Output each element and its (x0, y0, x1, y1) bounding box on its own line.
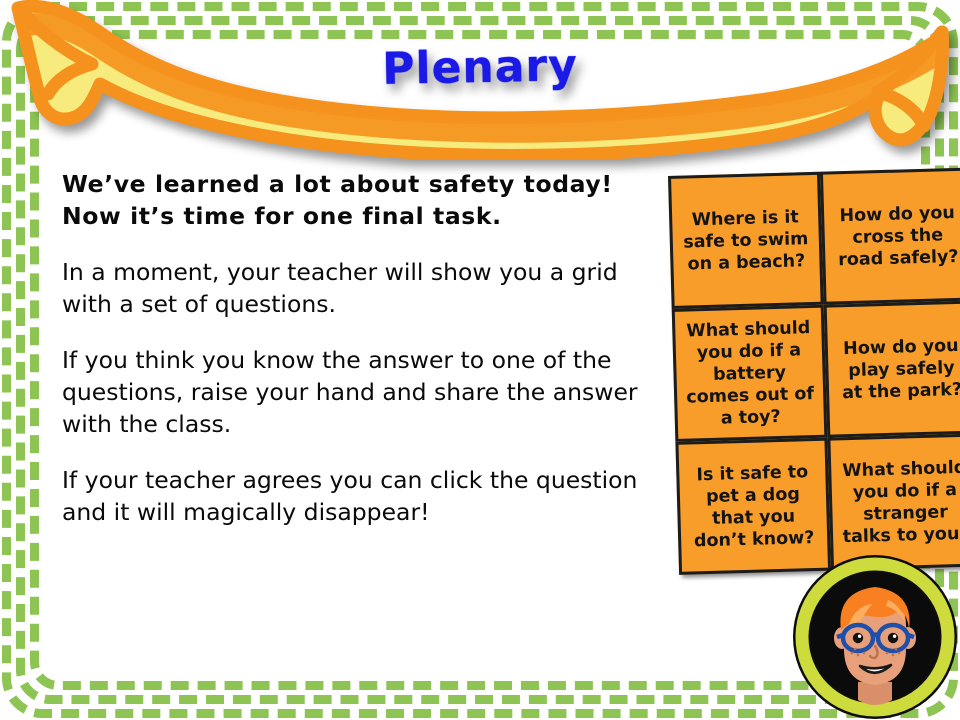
question-tile[interactable]: How do you cross the road safely? (820, 168, 960, 305)
question-tile[interactable]: Where is it safe to swim on a beach? (668, 172, 824, 309)
plenary-ribbon-banner: Plenary (0, 0, 960, 159)
safety-question-grid: Where is it safe to swim on a beach? How… (668, 164, 960, 576)
slide-canvas: Plenary We’ve learned a lot about safety… (0, 0, 960, 720)
question-tile-label: Is it safe to pet a dog that you don’t k… (687, 460, 819, 552)
paragraph-four: If your teacher agrees you can click the… (62, 464, 662, 528)
question-tile[interactable]: What should you do if a stranger talks t… (827, 433, 960, 570)
question-tile-label: What should you do if a battery comes ou… (683, 317, 816, 431)
paragraph-lead: We’ve learned a lot about safety today! … (62, 168, 662, 232)
question-tile[interactable]: How do you play safely at the park? (824, 300, 960, 437)
paragraph-two: In a moment, your teacher will show you … (62, 256, 662, 320)
student-avatar-boy-glasses (792, 554, 958, 720)
lesson-instructions: We’ve learned a lot about safety today! … (62, 168, 662, 552)
question-tile-label: Where is it safe to swim on a beach? (680, 206, 812, 276)
question-tile-label: How do you play safely at the park? (836, 334, 960, 404)
question-tile[interactable]: What should you do if a battery comes ou… (672, 305, 828, 442)
question-tile-label: How do you cross the road safely? (832, 201, 960, 271)
paragraph-three: If you think you know the answer to one … (62, 344, 662, 440)
question-tile-label: What should you do if a stranger talks t… (839, 456, 960, 548)
